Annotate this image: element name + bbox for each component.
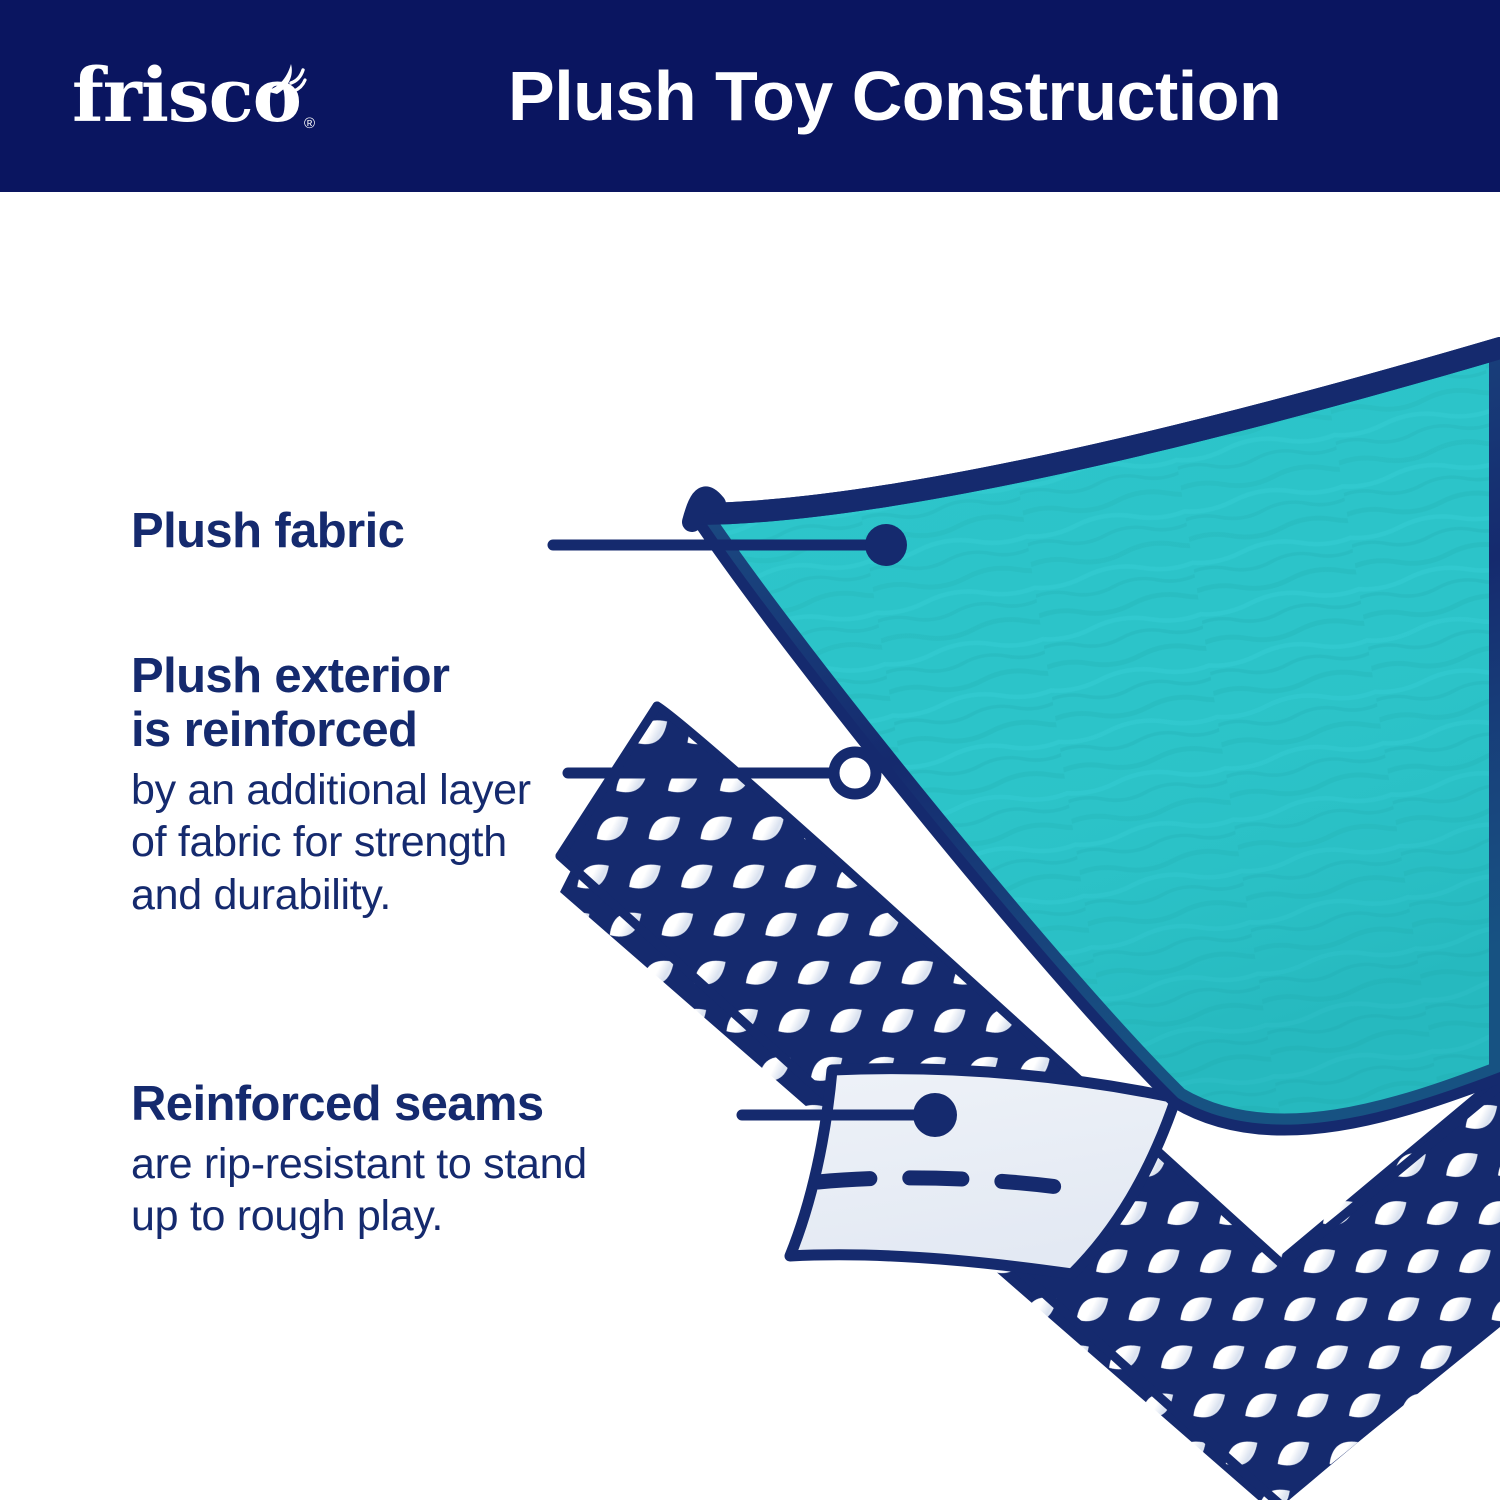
- callout-plush-fabric: Plush fabric: [131, 505, 404, 559]
- callout-plush-exterior-body: by an additional layer of fabric for str…: [131, 764, 531, 921]
- page-title: Plush Toy Construction: [508, 56, 1281, 136]
- leader-dot-reinforced-seams: [913, 1093, 957, 1137]
- frisco-logo-text: frisco: [72, 53, 301, 139]
- callout-reinforced-seams: Reinforced seams are rip-resistant to st…: [131, 1078, 587, 1243]
- infographic-canvas: frisco ® Plush Toy Construction: [0, 0, 1500, 1500]
- callout-plush-exterior: Plush exterior is reinforced by an addit…: [131, 650, 531, 921]
- frisco-logo: frisco ®: [72, 59, 301, 133]
- header-bar: frisco ® Plush Toy Construction: [0, 0, 1500, 192]
- callout-reinforced-seams-body: are rip-resistant to stand up to rough p…: [131, 1138, 587, 1243]
- leader-dot-plush-fabric: [865, 524, 907, 566]
- callout-plush-fabric-heading: Plush fabric: [131, 505, 404, 559]
- registered-trademark-icon: ®: [304, 116, 315, 131]
- callout-reinforced-seams-heading: Reinforced seams: [131, 1078, 587, 1132]
- leader-ring-plush-exterior: [834, 752, 876, 794]
- callout-plush-exterior-heading: Plush exterior is reinforced: [131, 650, 531, 758]
